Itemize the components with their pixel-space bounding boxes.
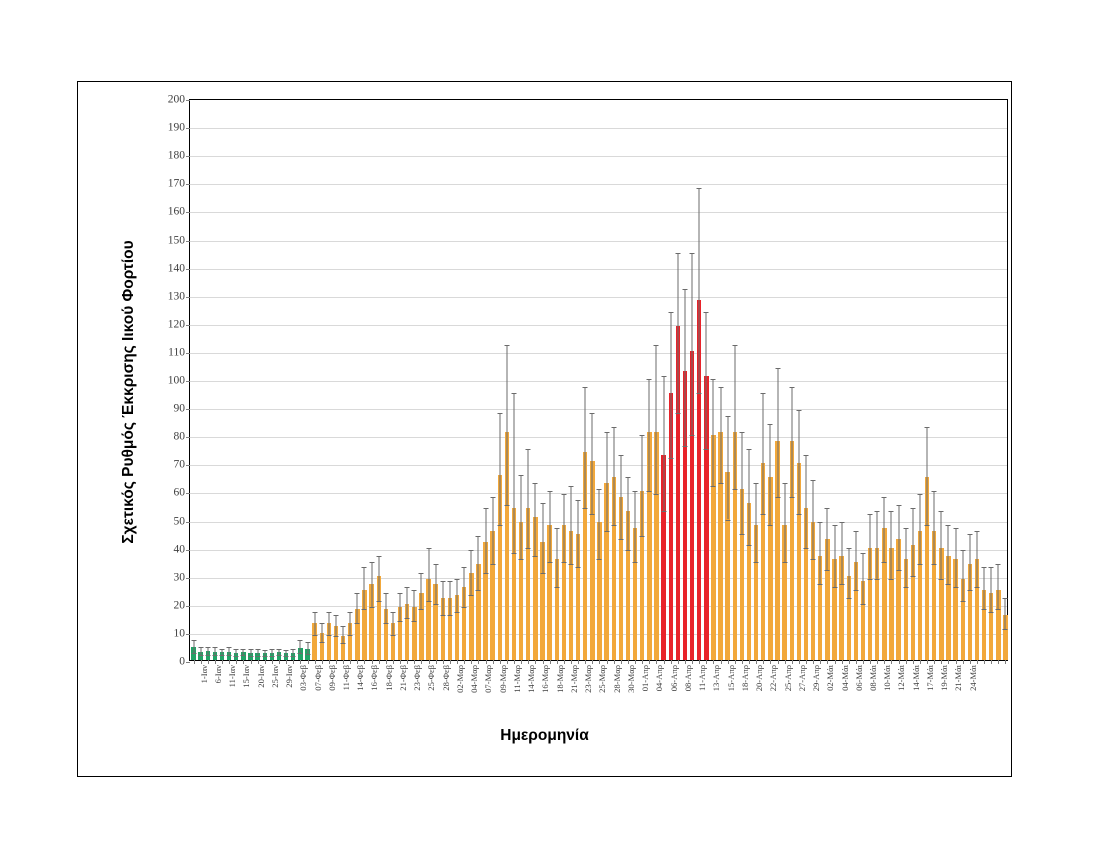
x-tick-mark (407, 660, 408, 664)
error-bar-cap-upper (490, 497, 495, 498)
error-bar-line (677, 253, 678, 413)
error-bar-cap-lower (355, 623, 360, 624)
error-bar-line (862, 553, 863, 604)
error-bar-cap-upper (718, 387, 723, 388)
error-bar-cap-upper (1003, 598, 1008, 599)
error-bar-cap-lower (390, 635, 395, 636)
x-tick-label: 21-Μάι (953, 665, 963, 691)
x-tick-mark (571, 660, 572, 664)
error-bar-cap-lower (917, 564, 922, 565)
error-bar-cap-lower (953, 587, 958, 588)
error-bar-cap-upper (362, 567, 367, 568)
x-tick-mark (799, 660, 800, 664)
error-bar-cap-lower (982, 609, 987, 610)
bar-column: 20-Απρ (747, 98, 751, 660)
x-tick-label: 08-Απρ (683, 665, 693, 691)
x-tick-mark (635, 660, 636, 664)
x-tick-mark (471, 660, 472, 664)
x-tick-mark (927, 660, 928, 664)
bar-column: 15-Απρ (718, 98, 722, 660)
x-tick-mark (977, 660, 978, 664)
error-bar-cap-upper (625, 477, 630, 478)
bar-column: 11-Απρ (690, 98, 694, 660)
error-bar-line (813, 480, 814, 559)
error-bar-line (870, 514, 871, 579)
x-tick-label: 14-Μάι (911, 665, 921, 691)
x-tick-label: 1-Ιαν (199, 665, 209, 683)
error-bar-cap-upper (974, 531, 979, 532)
bar-column: 14-Μάι (904, 98, 908, 660)
error-bar-cap-lower (533, 556, 538, 557)
error-bar-cap-lower (476, 590, 481, 591)
bar-column (953, 98, 957, 660)
x-tick-label: 16-Φεβ (369, 665, 379, 691)
error-bar-cap-lower (754, 562, 759, 563)
error-bar-cap-lower (483, 573, 488, 574)
error-bar-cap-lower (732, 489, 737, 490)
error-bar-cap-lower (469, 595, 474, 596)
bar-column (896, 98, 900, 660)
error-bar-cap-upper (455, 579, 460, 580)
bar-column (198, 98, 202, 660)
error-bar-cap-upper (419, 573, 424, 574)
x-tick-label: 27-Απρ (797, 665, 807, 691)
error-bar-cap-upper (405, 587, 410, 588)
error-bar-line (919, 494, 920, 564)
bar-column (982, 98, 986, 660)
error-bar-cap-lower (220, 655, 225, 656)
error-bar-cap-upper (519, 475, 524, 476)
x-tick-mark (713, 660, 714, 664)
error-bar-cap-lower (305, 654, 310, 655)
error-bar-cap-upper (910, 508, 915, 509)
error-bar-cap-lower (910, 576, 915, 577)
error-bar-line (556, 528, 557, 587)
error-bar-cap-upper (312, 612, 317, 613)
error-bar-cap-lower (540, 573, 545, 574)
x-tick-label: 15-Ιαν (241, 665, 251, 688)
x-tick-mark (827, 660, 828, 664)
bar-column (612, 98, 616, 660)
error-bar-cap-upper (583, 387, 588, 388)
x-axis-title: Ημερομηνία (78, 727, 1011, 745)
error-bar-cap-lower (718, 483, 723, 484)
error-bar-cap-upper (682, 289, 687, 290)
error-bar-cap-lower (326, 635, 331, 636)
x-tick-label: 21-Μαρ (569, 665, 579, 693)
y-tick-label: 110 (168, 347, 185, 359)
error-bar-cap-upper (398, 593, 403, 594)
x-tick-label: 11-Ιαν (227, 665, 237, 687)
error-bar-line (941, 511, 942, 578)
error-bar-line (193, 640, 194, 653)
x-tick-mark (884, 660, 885, 664)
error-bar-cap-upper (611, 427, 616, 428)
y-tick-label: 160 (168, 207, 185, 219)
x-tick-mark (970, 660, 971, 664)
error-bar-cap-upper (590, 413, 595, 414)
error-bar-cap-lower (333, 636, 338, 637)
bar-column: 6-Ιαν (206, 98, 210, 660)
x-tick-mark (379, 660, 380, 664)
error-bar-cap-lower (191, 653, 196, 654)
error-bar-line (962, 550, 963, 601)
bar-column (270, 98, 274, 660)
error-bar-cap-lower (974, 587, 979, 588)
bar-column (327, 98, 331, 660)
bar-column: 20-Ιαν (248, 98, 252, 660)
y-tick-label: 60 (174, 488, 186, 500)
bar-column (882, 98, 886, 660)
error-bar-cap-lower (625, 550, 630, 551)
x-tick-mark (521, 660, 522, 664)
x-tick-mark (813, 660, 814, 664)
error-bar-cap-lower (618, 539, 623, 540)
bar-column: 18-Μαρ (547, 98, 551, 660)
error-bar-line (976, 531, 977, 587)
error-bar-line (741, 432, 742, 533)
error-bar-cap-upper (754, 483, 759, 484)
error-bar-cap-lower (704, 449, 709, 450)
error-bar-cap-lower (668, 458, 673, 459)
error-bar-cap-upper (732, 345, 737, 346)
bar-column (939, 98, 943, 660)
x-tick-mark (671, 660, 672, 664)
bar-column: 21-Μάι (946, 98, 950, 660)
bar-column (241, 98, 245, 660)
error-bar-cap-lower (697, 393, 702, 394)
x-tick-mark (749, 660, 750, 664)
error-bar-cap-upper (989, 567, 994, 568)
error-bar-cap-upper (967, 534, 972, 535)
error-bar-cap-lower (889, 579, 894, 580)
x-tick-mark (991, 660, 992, 664)
error-bar-cap-lower (789, 497, 794, 498)
bar-column: 22-Απρ (761, 98, 765, 660)
error-bar-cap-lower (832, 587, 837, 588)
x-tick-mark (628, 660, 629, 664)
bar-column: 1-Ιαν (191, 98, 195, 660)
plot-area: 0102030405060708090100110120130140150160… (189, 99, 1008, 661)
error-bar-cap-upper (369, 562, 374, 563)
bar-column: 09-Φεβ (320, 98, 324, 660)
bar-column: 07-Φεβ (305, 98, 309, 660)
bar-column (925, 98, 929, 660)
x-tick-label: 11-Φεβ (341, 665, 351, 690)
bar-column: 23-Φεβ (405, 98, 409, 660)
error-bar-line (820, 522, 821, 584)
error-bar-line (898, 505, 899, 570)
error-bar-cap-upper (604, 432, 609, 433)
error-bar-line (848, 548, 849, 599)
error-bar-cap-upper (227, 647, 232, 648)
error-bar-line (713, 379, 714, 486)
error-bar-line (407, 587, 408, 618)
bar-column (640, 98, 644, 660)
bar-column (441, 98, 445, 660)
error-bar-line (955, 528, 956, 587)
error-bar-cap-lower (640, 536, 645, 537)
error-bar-line (449, 581, 450, 615)
error-bar-line (563, 494, 564, 561)
error-bar-line (720, 387, 721, 483)
x-tick-label: 02-Μαρ (455, 665, 465, 693)
error-bar-cap-upper (761, 393, 766, 394)
error-bar-cap-upper (198, 647, 203, 648)
error-bar-line (585, 387, 586, 508)
bar-column: 06-Μάι (847, 98, 851, 660)
x-tick-label: 02-Μάι (825, 665, 835, 691)
bar-column (483, 98, 487, 660)
bar-column: 14-Μαρ (519, 98, 523, 660)
error-bar-cap-upper (426, 548, 431, 549)
x-tick-label: 28-Φεβ (441, 665, 451, 691)
error-bar-cap-upper (191, 640, 196, 641)
error-bar-line (627, 477, 628, 550)
bar-column (989, 98, 993, 660)
y-tick-mark (186, 662, 190, 663)
x-tick-mark (350, 660, 351, 664)
error-bar-line (663, 376, 664, 511)
error-bar-line (442, 581, 443, 615)
x-tick-label: 17-Μάι (925, 665, 935, 691)
error-bar-cap-lower (241, 655, 246, 656)
error-bar-cap-upper (269, 649, 274, 650)
bar-column (1003, 98, 1007, 660)
x-tick-mark (243, 660, 244, 664)
error-bar-line (699, 188, 700, 393)
error-bar-cap-upper (925, 427, 930, 428)
bar-column (384, 98, 388, 660)
error-bar-cap-lower (234, 656, 239, 657)
bar-column (341, 98, 345, 660)
error-bar-line (478, 536, 479, 589)
error-bar-cap-upper (889, 511, 894, 512)
x-tick-mark (300, 660, 301, 664)
error-bar-cap-lower (369, 607, 374, 608)
bar-column (839, 98, 843, 660)
error-bar-line (435, 564, 436, 603)
x-tick-label: 23-Φεβ (412, 665, 422, 691)
error-bar-cap-upper (305, 642, 310, 643)
bar-column: 06-Απρ (661, 98, 665, 660)
bar-series: 1-Ιαν6-Ιαν11-Ιαν15-Ιαν20-Ιαν25-Ιαν29-Ιαν… (190, 100, 1007, 660)
error-bar-cap-upper (512, 393, 517, 394)
error-bar-cap-upper (996, 564, 1001, 565)
error-bar-line (314, 612, 315, 634)
error-bar-line (798, 410, 799, 514)
error-bar-cap-upper (469, 550, 474, 551)
x-tick-mark (913, 660, 914, 664)
x-tick-mark (863, 660, 864, 664)
error-bar-cap-upper (860, 553, 865, 554)
error-bar-line (485, 508, 486, 573)
error-bar-cap-upper (220, 649, 225, 650)
x-tick-mark (899, 660, 900, 664)
x-tick-mark (1005, 660, 1006, 664)
x-tick-mark (429, 660, 430, 664)
error-bar-line (620, 455, 621, 539)
x-tick-mark (514, 660, 515, 664)
error-bar-cap-upper (917, 494, 922, 495)
bar-column: 28-Φεβ (433, 98, 437, 660)
x-tick-label: 12-Μάι (896, 665, 906, 691)
x-tick-mark (656, 660, 657, 664)
error-bar-line (927, 427, 928, 525)
bar-column (426, 98, 430, 660)
x-tick-mark (322, 660, 323, 664)
error-bar-line (400, 593, 401, 621)
x-tick-mark (329, 660, 330, 664)
error-bar-cap-upper (811, 480, 816, 481)
error-bar-cap-upper (547, 491, 552, 492)
x-tick-label: 04-Απρ (654, 665, 664, 691)
error-bar-cap-lower (811, 559, 816, 560)
error-bar-cap-upper (825, 508, 830, 509)
error-bar-cap-lower (675, 413, 680, 414)
x-tick-mark (585, 660, 586, 664)
x-tick-mark (578, 660, 579, 664)
error-bar-cap-upper (554, 528, 559, 529)
error-bar-cap-lower (319, 642, 324, 643)
error-bar-cap-upper (291, 649, 296, 650)
error-bar-line (998, 564, 999, 609)
error-bar-line (521, 475, 522, 559)
error-bar-cap-upper (939, 511, 944, 512)
x-tick-mark (891, 660, 892, 664)
error-bar-line (499, 413, 500, 525)
x-tick-mark (550, 660, 551, 664)
x-tick-label: 09-Φεβ (327, 665, 337, 691)
error-bar-line (549, 491, 550, 561)
error-bar-line (770, 424, 771, 525)
error-bar-cap-upper (504, 345, 509, 346)
bar-column (811, 98, 815, 660)
x-tick-mark (450, 660, 451, 664)
x-tick-label: 11-Μαρ (512, 665, 522, 693)
x-tick-mark (592, 660, 593, 664)
x-tick-mark (265, 660, 266, 664)
x-tick-label: 10-Μάι (882, 665, 892, 691)
error-bar-cap-upper (675, 253, 680, 254)
error-bar-cap-upper (725, 416, 730, 417)
error-bar-cap-upper (533, 483, 538, 484)
x-tick-mark (486, 660, 487, 664)
bar-column: 25-Απρ (775, 98, 779, 660)
x-tick-label: 16-Μαρ (540, 665, 550, 693)
error-bar-cap-upper (775, 368, 780, 369)
bar-column (355, 98, 359, 660)
x-tick-mark (778, 660, 779, 664)
error-bar-cap-upper (747, 449, 752, 450)
bar-column: 21-Φεβ (391, 98, 395, 660)
error-bar-cap-lower (796, 514, 801, 515)
y-tick-label: 170 (168, 179, 185, 191)
error-bar-line (905, 528, 906, 587)
error-bar-line (777, 368, 778, 497)
x-tick-mark (792, 660, 793, 664)
bar-column: 11-Ιαν (220, 98, 224, 660)
bar-column: 04-Μαρ (462, 98, 466, 660)
y-tick-label: 10 (174, 628, 186, 640)
x-tick-mark (664, 660, 665, 664)
bar-column: 25-Φεβ (419, 98, 423, 660)
bar-column: 19-Μάι (932, 98, 936, 660)
y-axis-title: Σχετικός Ρυθμός Έκκρισης Ιικού Φορτίου (120, 182, 144, 602)
y-tick-label: 140 (168, 263, 185, 275)
x-tick-mark (393, 660, 394, 664)
x-tick-mark (229, 660, 230, 664)
error-bar-cap-upper (654, 345, 659, 346)
error-bar-cap-upper (447, 581, 452, 582)
error-bar-cap-lower (853, 590, 858, 591)
error-bar-cap-upper (355, 593, 360, 594)
error-bar-line (613, 427, 614, 525)
error-bar-cap-lower (960, 601, 965, 602)
error-bar-line (912, 508, 913, 575)
error-bar-line (734, 345, 735, 488)
x-tick-mark (272, 660, 273, 664)
error-bar-cap-lower (597, 559, 602, 560)
error-bar-cap-lower (903, 587, 908, 588)
error-bar-line (642, 435, 643, 536)
bar-column (284, 98, 288, 660)
x-tick-mark (728, 660, 729, 664)
error-bar-cap-upper (433, 564, 438, 565)
bar-column (740, 98, 744, 660)
error-bar-line (364, 567, 365, 609)
x-tick-mark (735, 660, 736, 664)
bar-column (797, 98, 801, 660)
error-bar-cap-lower (462, 607, 467, 608)
error-bar-line (528, 449, 529, 547)
error-bar-line (471, 550, 472, 595)
error-bar-cap-upper (711, 379, 716, 380)
error-bar-cap-upper (982, 567, 987, 568)
bar-column (782, 98, 786, 660)
bar-column (597, 98, 601, 660)
error-bar-cap-upper (483, 508, 488, 509)
bar-column (583, 98, 587, 660)
x-tick-mark (421, 660, 422, 664)
x-tick-label: 24-Μάι (968, 665, 978, 691)
error-bar-line (891, 511, 892, 578)
x-tick-mark (208, 660, 209, 664)
x-tick-label: 29-Απρ (811, 665, 821, 691)
y-tick-label: 130 (168, 291, 185, 303)
error-bar-cap-upper (540, 503, 545, 504)
x-tick-mark (877, 660, 878, 664)
bar-column: 21-Μαρ (562, 98, 566, 660)
bar-column: 15-Ιαν (234, 98, 238, 660)
x-tick-mark (436, 660, 437, 664)
error-bar-cap-upper (789, 387, 794, 388)
error-bar-cap-lower (212, 655, 217, 656)
bar-column: 04-Απρ (647, 98, 651, 660)
x-tick-mark (948, 660, 949, 664)
error-bar-cap-upper (782, 483, 787, 484)
error-bar-cap-upper (561, 494, 566, 495)
error-bar-cap-lower (227, 655, 232, 656)
error-bar-cap-upper (618, 455, 623, 456)
error-bar-cap-upper (526, 449, 531, 450)
error-bar-cap-upper (569, 486, 574, 487)
error-bar-cap-upper (704, 312, 709, 313)
x-tick-mark (842, 660, 843, 664)
x-tick-mark (457, 660, 458, 664)
error-bar-cap-lower (860, 604, 865, 605)
bar-column: 16-Φεβ (362, 98, 366, 660)
